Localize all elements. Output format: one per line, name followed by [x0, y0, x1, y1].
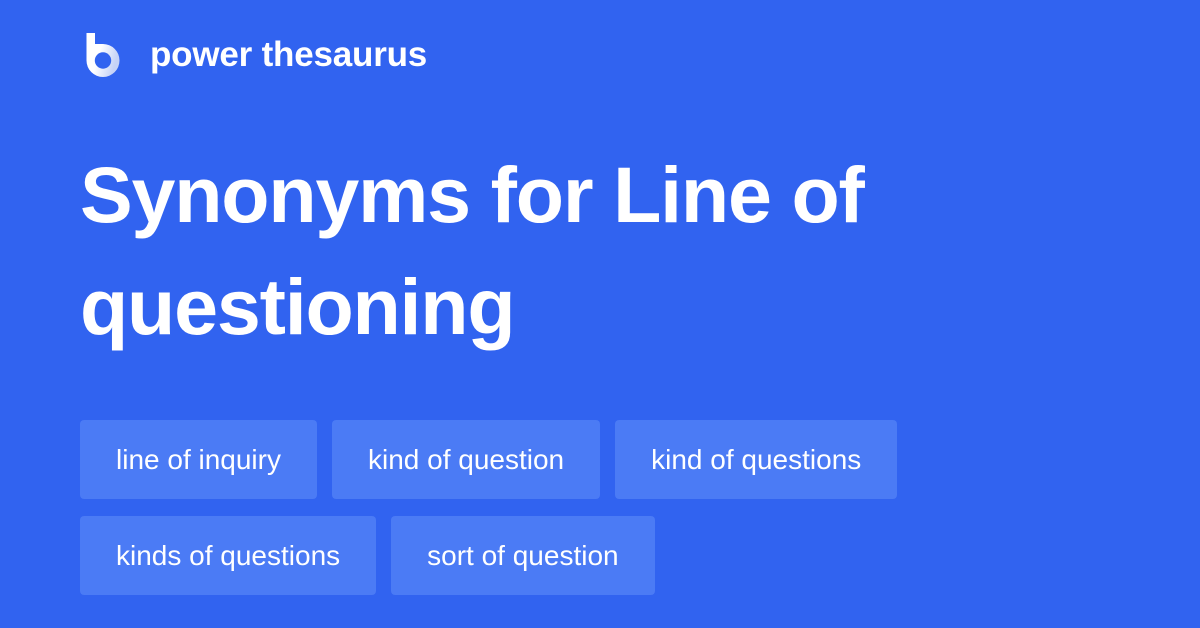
power-thesaurus-b-logo-icon — [80, 31, 126, 77]
page-title: Synonyms for Line of questioning — [80, 139, 1090, 363]
synonym-chip[interactable]: kind of question — [332, 420, 600, 499]
share-card: power thesaurus Synonyms for Line of que… — [0, 0, 1200, 628]
synonym-chip-list: line of inquiry kind of question kind of… — [80, 420, 1140, 595]
synonym-chip[interactable]: sort of question — [391, 516, 654, 595]
brand-logo[interactable]: power thesaurus — [80, 28, 427, 80]
synonym-chip[interactable]: line of inquiry — [80, 420, 317, 499]
brand-name: power thesaurus — [150, 37, 427, 72]
synonym-chip[interactable]: kind of questions — [615, 420, 897, 499]
synonym-chip[interactable]: kinds of questions — [80, 516, 376, 595]
